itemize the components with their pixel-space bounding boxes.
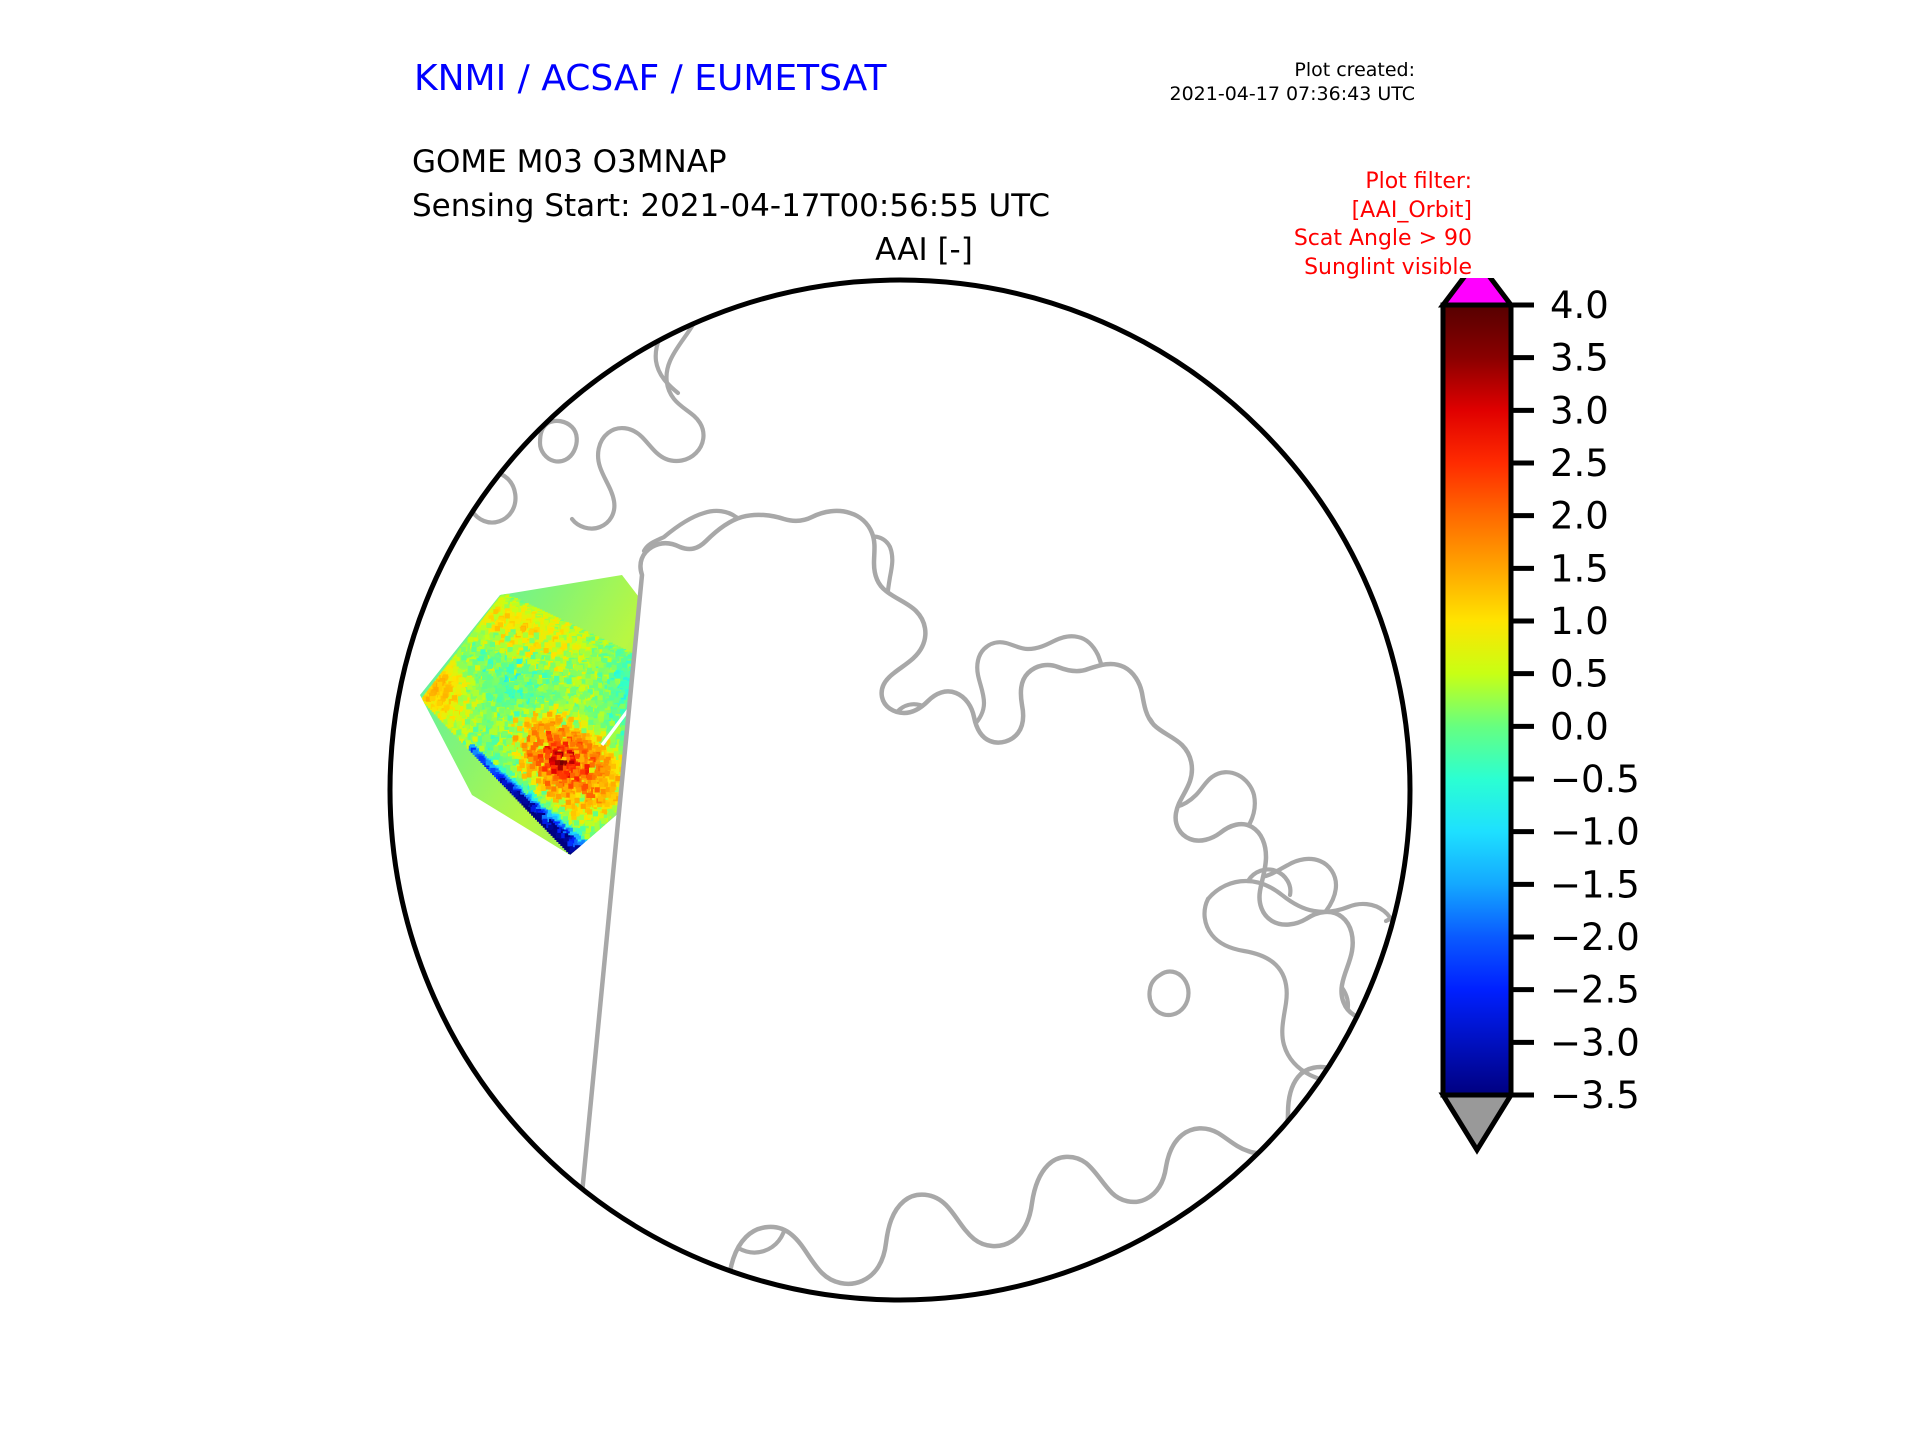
swath-pixel-group (573, 782, 578, 787)
swath-pixel-group (601, 731, 606, 736)
colorbar-tick-label: 0.5 (1550, 653, 1609, 696)
colorbar-tick-label: 1.0 (1550, 600, 1609, 643)
plot-canvas: KNMI / ACSAF / EUMETSAT Plot created: 20… (0, 0, 1920, 1440)
colorbar-tick-label: 3.5 (1550, 337, 1609, 380)
colorbar-tick-label: 3.0 (1550, 389, 1609, 432)
swath-pixel-group (551, 769, 556, 774)
sensing-start-text: Sensing Start: 2021-04-17T00:56:55 UTC (412, 186, 1050, 226)
swath-pixel-group (536, 813, 541, 818)
swath-pixel-group (531, 807, 536, 812)
swath-pixel-group (490, 768, 495, 773)
colorbar-tick-label: −3.5 (1550, 1074, 1640, 1117)
swath-pixel-group (506, 709, 511, 714)
swath-pixel-group (567, 679, 572, 684)
swath-pixel-group (518, 796, 523, 801)
plot-created-value: 2021-04-17 07:36:43 UTC (1170, 82, 1416, 106)
polar-map (380, 275, 1420, 1315)
colorbar-tick-label: −3.0 (1550, 1021, 1640, 1064)
swath-pixel-group (490, 651, 495, 656)
swath-pixel-group (561, 774, 566, 779)
colorbar-tick-label: −1.0 (1550, 811, 1640, 854)
swath-pixel-group (558, 783, 563, 788)
swath-pixel-group (559, 799, 564, 804)
colorbar-gradient (1443, 305, 1511, 1095)
colorbar-tick-label: −1.5 (1550, 863, 1640, 906)
plot-filter-line-2: Scat Angle > 90 (1294, 225, 1472, 254)
swath-pixel-group (473, 691, 478, 696)
colorbar-svg: 4.03.53.02.52.01.51.00.50.0−0.5−1.0−1.5−… (1428, 278, 1848, 1298)
swath-pixel-group (570, 742, 575, 747)
colorbar-under-arrow (1443, 1095, 1511, 1150)
colorbar-tick-label: 2.5 (1550, 442, 1609, 485)
swath-pixel-group (567, 841, 572, 846)
plot-filter-block: Plot filter: [AAI_Orbit] Scat Angle > 90… (1294, 168, 1472, 282)
swath-pixel-group (539, 758, 544, 763)
quantity-title: AAI [-] (0, 232, 1848, 268)
colorbar-tick-label: 1.5 (1550, 547, 1609, 590)
colorbar-tick-label: 0.0 (1550, 705, 1609, 748)
swath-pixel-group (479, 756, 484, 761)
swath-pixel-group (499, 708, 504, 713)
swath-pixel-group (509, 669, 514, 674)
swath-pixel-group (556, 833, 561, 838)
plot-filter-line-0: Plot filter: (1294, 168, 1472, 197)
colorbar: 4.03.53.02.52.01.51.00.50.0−0.5−1.0−1.5−… (1428, 278, 1848, 1298)
colorbar-tick-label: −0.5 (1550, 758, 1640, 801)
swath-pixel-group (479, 656, 484, 661)
map-svg (380, 275, 1420, 1315)
swath-pixel-group (507, 738, 512, 743)
plot-created-label: Plot created: (1170, 58, 1416, 82)
swath-pixel-group (555, 760, 560, 765)
colorbar-tick-label: −2.5 (1550, 969, 1640, 1012)
colorbar-over-arrow (1443, 278, 1511, 305)
agency-title: KNMI / ACSAF / EUMETSAT (414, 58, 886, 99)
colorbar-tick-label: 4.0 (1550, 284, 1609, 327)
swath-pixel-group (523, 799, 528, 804)
plot-filter-line-1: [AAI_Orbit] (1294, 197, 1472, 226)
swath-pixel-group (558, 765, 563, 770)
colorbar-ticks: 4.03.53.02.52.01.51.00.50.0−0.5−1.0−1.5−… (1511, 284, 1640, 1117)
swath-pixel-group (459, 677, 464, 682)
colorbar-tick-label: −2.0 (1550, 916, 1640, 959)
colorbar-tick-label: 2.0 (1550, 495, 1609, 538)
swath-pixel-group (580, 769, 585, 774)
swath-pixel-group (465, 719, 470, 724)
swath-pixel-group (575, 793, 580, 798)
swath-pixel-group (599, 813, 604, 818)
product-title: GOME M03 O3MNAP (412, 142, 727, 182)
swath-pixel-group (587, 775, 592, 780)
plot-created-block: Plot created: 2021-04-17 07:36:43 UTC (1170, 58, 1416, 106)
swath-pixel-group (467, 685, 472, 690)
